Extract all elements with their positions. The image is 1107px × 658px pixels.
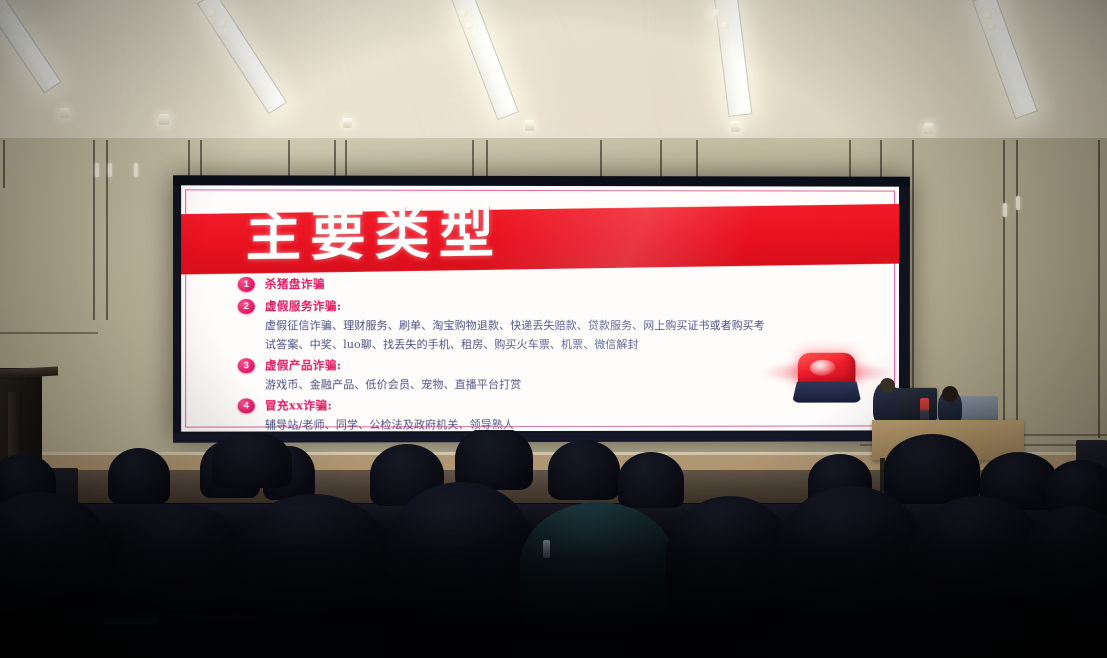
slide-title: 主要类型	[246, 203, 503, 267]
wall-panel-handle	[134, 163, 138, 177]
list-item-heading: 冒充xx诈骗:	[265, 397, 332, 414]
wall-groove	[880, 140, 882, 178]
audience-head	[212, 432, 292, 488]
list-item-number: 3	[238, 358, 255, 373]
ceiling-spot-3c	[525, 120, 534, 131]
audience-head	[108, 448, 170, 504]
list-item: 2 虚假服务诈骗:	[181, 298, 899, 315]
siren-base	[792, 382, 861, 403]
presentation-slide: 主要类型 1 杀猪盘诈骗 2 虚假服务诈骗: 虚假征信诈骗、理财服务、刷单、淘宝…	[181, 185, 899, 431]
ceiling-spot-3b	[466, 22, 473, 29]
audience-head	[455, 430, 533, 490]
wall-groove-horizontal	[0, 332, 98, 334]
water-bottle	[920, 398, 929, 422]
ceiling-spot-2d	[343, 118, 352, 128]
audience-head	[548, 440, 620, 500]
ceiling-spot-3a	[459, 9, 467, 17]
seated-person-head	[942, 386, 958, 402]
ceiling-spot-4b	[721, 21, 729, 29]
wall-panel-handle	[1003, 203, 1007, 217]
ceiling-spot-5b	[988, 23, 995, 30]
wall-groove	[3, 140, 5, 188]
siren-highlight	[810, 360, 836, 376]
lecture-hall-photo: 主要类型 1 杀猪盘诈骗 2 虚假服务诈骗: 虚假征信诈骗、理财服务、刷单、淘宝…	[0, 0, 1107, 658]
wall-groove	[1003, 140, 1005, 438]
list-item-heading: 虚假服务诈骗:	[265, 298, 342, 315]
wall-groove	[334, 140, 336, 180]
wall-groove	[600, 140, 602, 178]
siren-light-icon	[784, 351, 869, 407]
audience-head	[884, 434, 980, 504]
presenter-head	[880, 378, 895, 393]
ceiling-spot-5a	[984, 11, 992, 19]
wall-groove	[696, 140, 698, 178]
list-item-detail-line: 虚假征信诈骗、理财服务、刷单、淘宝购物退款、快递丢失赔款、贷款服务、网上购买证书…	[265, 316, 879, 335]
list-item-number: 2	[238, 299, 255, 314]
wall-panel-handle	[108, 163, 112, 177]
wall-groove	[288, 140, 290, 180]
ceiling-spot-4c	[731, 121, 740, 132]
wall-panel-handle	[95, 163, 99, 177]
ceiling-spot-2a	[208, 9, 216, 17]
wall-groove	[1098, 140, 1100, 438]
wall-groove	[849, 140, 851, 178]
wall-groove	[1016, 140, 1018, 438]
wall-groove	[486, 140, 488, 178]
list-item-number: 1	[238, 277, 255, 292]
ceiling-spot-2b	[219, 21, 226, 28]
ceiling-spot-1b	[60, 108, 69, 118]
ceiling-spot-5c	[924, 123, 933, 134]
audience-head	[618, 452, 684, 508]
projection-screen: 主要类型 1 杀猪盘诈骗 2 虚假服务诈骗: 虚假征信诈骗、理财服务、刷单、淘宝…	[173, 175, 910, 442]
wall-groove	[660, 140, 662, 178]
wall-groove	[472, 140, 474, 178]
ceiling-spot-2c	[159, 114, 169, 125]
wall-panel-handle	[1016, 196, 1020, 210]
list-item-heading: 杀猪盘诈骗	[265, 276, 325, 293]
audience-area	[0, 430, 1107, 658]
list-item-number: 4	[238, 398, 255, 413]
wall-groove	[345, 140, 347, 180]
list-item: 1 杀猪盘诈骗	[181, 276, 899, 293]
ceiling-spot-4a	[712, 9, 720, 17]
list-item-heading: 虚假产品诈骗:	[265, 357, 342, 374]
foreground-shadow	[0, 508, 1107, 658]
